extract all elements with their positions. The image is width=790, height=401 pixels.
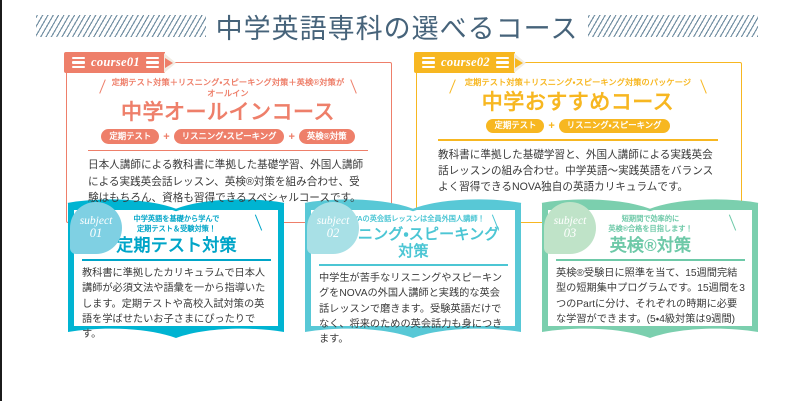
subject-kicker-line-1: NOVAの英会話レッスンは全員外国人講師！	[339, 214, 488, 224]
pill-separator: +	[163, 131, 169, 143]
pencil-lead-icon	[165, 58, 173, 68]
subject-divider	[319, 264, 508, 266]
pencil-body: course01	[64, 52, 165, 73]
subject-card-03[interactable]: subject 03 短期間で効率的に 英検®合格を目指します！ 英検®対策 英…	[538, 196, 763, 346]
subject-kicker-line-2: 英検®合格を目指します！	[576, 224, 725, 234]
subject-card-02[interactable]: subject 02 NOVAの英会話レッスンは全員外国人講師！ リスニング・ス…	[301, 196, 526, 346]
subject-kicker-line-1: 短期間で効率的に	[576, 214, 725, 224]
course-description: 日本人講師による教科書に準拠した基礎学習、外国人講師による実践英会話レッスン、英…	[88, 157, 368, 206]
course-description: 教科書に準拠した基礎学習と、外国人講師による実践英会話レッスンの組み合わせ。中学…	[438, 147, 718, 196]
course-title: 中学オールインコース	[88, 101, 368, 125]
subject-badge-number: 01	[90, 227, 103, 241]
course-pill: リスニング・スピーキング	[174, 129, 285, 143]
pencil-stripes-icon-2	[146, 57, 159, 68]
subject-badge-02: subject 02	[307, 202, 359, 254]
subject-card-list: subject 01 中学英語を基礎から学んで 定期テスト＆受験対策！ 定期テス…	[64, 196, 764, 346]
course-badge-label: course01	[91, 55, 140, 70]
pill-separator: +	[548, 120, 554, 132]
hatch-decoration-left	[36, 15, 206, 37]
course-pill: 定期テスト	[101, 129, 159, 143]
course-pencil-badge: course02	[414, 52, 523, 73]
course-kicker: 定期テスト対策＋リスニング・スピーキング対策＋英検®対策がオールイン	[88, 78, 368, 99]
course-kicker: 定期テスト対策＋リスニング・スピーキング対策のパッケージ	[438, 78, 718, 89]
subject-description: 教科書に準拠したカリキュラムで日本人講師が必須文法や語彙を一から指導いたします。…	[82, 266, 271, 342]
subject-divider	[556, 259, 745, 261]
subject-badge-number: 02	[327, 227, 340, 241]
subject-card-01[interactable]: subject 01 中学英語を基礎から学んで 定期テスト＆受験対策！ 定期テス…	[64, 196, 289, 346]
pill-separator: +	[288, 131, 294, 143]
course-pill: 英検®対策	[299, 129, 355, 143]
course-card-01[interactable]: course01 定期テスト対策＋リスニング・スピーキング対策＋英検®対策がオー…	[64, 48, 392, 223]
pencil-stripes-icon-2	[496, 57, 509, 68]
subject-badge-03: subject 03	[544, 202, 596, 254]
course-divider	[438, 139, 718, 141]
subject-description: 中学生が苦手なリスニングやスピーキングをNOVAの外国人講師と実践的な英会話レッ…	[319, 271, 508, 347]
subject-divider	[82, 259, 271, 261]
course-pill-row: 定期テスト + リスニング・スピーキング + 英検®対策	[88, 129, 368, 143]
hatch-decoration-right	[588, 15, 758, 37]
subject-badge-01: subject 01	[70, 202, 122, 254]
page-title-banner: 中学英語専科の選べるコース	[2, 6, 790, 46]
pencil-lead-icon	[515, 58, 523, 68]
course-content-02: 定期テスト対策＋リスニング・スピーキング対策のパッケージ 中学おすすめコース 定…	[424, 74, 732, 202]
course-pill-row: 定期テスト + リスニング・スピーキング	[438, 119, 718, 133]
course-badge-label: course02	[441, 55, 490, 70]
course-pill: リスニング・スピーキング	[559, 119, 670, 133]
pencil-stripes-icon	[422, 57, 435, 68]
subject-description: 英検®受験日に照準を当て、15週間完結型の短期集中プログラムです。15週間を3つ…	[556, 266, 745, 327]
subject-kicker-line-1: 中学英語を基礎から学んで	[102, 214, 251, 224]
course-title: 中学おすすめコース	[438, 91, 718, 115]
course-pencil-badge: course01	[64, 52, 173, 73]
course-divider	[88, 150, 368, 152]
pencil-stripes-icon	[72, 57, 85, 68]
pencil-body: course02	[414, 52, 515, 73]
course-content-01: 定期テスト対策＋リスニング・スピーキング対策＋英検®対策がオールイン 中学オール…	[74, 74, 382, 213]
subject-kicker-line-2: 定期テスト＆受験対策！	[102, 224, 251, 234]
course-pill: 定期テスト	[486, 119, 544, 133]
page-title: 中学英語専科の選べるコース	[216, 7, 579, 46]
subject-badge-number: 03	[564, 227, 577, 241]
course-card-02[interactable]: course02 定期テスト対策＋リスニング・スピーキング対策のパッケージ 中学…	[414, 48, 742, 223]
